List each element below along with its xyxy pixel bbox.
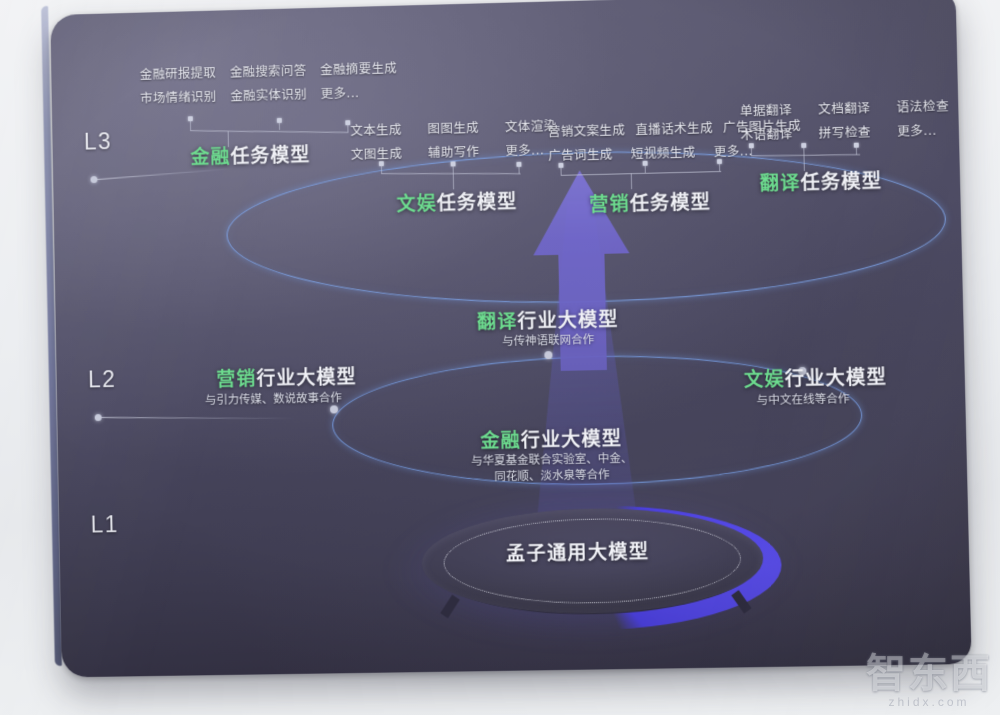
l3-model-title-marketing: 营销任务模型 xyxy=(589,187,711,217)
capability-chip: 文档翻译 xyxy=(818,97,871,117)
capability-chip: 语法检查 xyxy=(896,95,949,115)
l2-partners-translation: 与传神语联网合作 xyxy=(502,331,594,349)
level-rail-l2 xyxy=(102,417,296,419)
capability-chip: 直播话术生成 xyxy=(635,117,713,138)
l3-model-title-translation: 翻译任务模型 xyxy=(759,166,882,196)
l1-model-title: 孟子通用大模型 xyxy=(506,537,650,567)
capability-chip: 图图生成 xyxy=(427,117,479,137)
l2-partners-finance-line2: 同花顺、淡水泉等合作 xyxy=(471,466,633,485)
l3-model-title-finance: 金融任务模型 xyxy=(190,140,310,170)
capability-chip: 拼写检查 xyxy=(819,121,872,141)
l2-model-title-finance: 金融行业大模型 xyxy=(480,424,622,454)
l2-partners-finance: 与华夏基金联合实验室、中金、 同花顺、淡水泉等合作 xyxy=(471,450,633,485)
panel-face: L3 L2 L1 金融研报提取 金融搜索问答 xyxy=(50,0,971,677)
capability-chip: 更多... xyxy=(897,120,937,140)
l2-partners-marketing: 与引力传媒、数说故事合作 xyxy=(205,389,342,408)
capability-chip: 市场情绪识别 xyxy=(140,86,217,107)
l2-partners-entertainment: 与中文在线等合作 xyxy=(756,390,849,408)
capability-chip: 更多... xyxy=(321,82,360,102)
l2-model-title-entertainment: 文娱行业大模型 xyxy=(744,362,888,392)
capability-chip: 金融摘要生成 xyxy=(320,57,397,78)
capability-chip: 文本生成 xyxy=(350,119,402,139)
l2-model-title-marketing: 营销行业大模型 xyxy=(216,362,357,392)
capability-chip: 短视频生成 xyxy=(631,142,696,163)
watermark-url: zhidx.com xyxy=(866,695,992,709)
capability-chip: 金融研报提取 xyxy=(140,62,217,83)
capability-chip: 广告词生成 xyxy=(548,144,613,165)
l2-model-translation: 翻译行业大模型 与传神语联网合作 xyxy=(50,0,955,15)
level-rail-l3 xyxy=(97,168,235,180)
capability-chip: 金融实体识别 xyxy=(230,84,307,105)
level-label-l2: L2 xyxy=(88,366,117,393)
exhibition-display-panel: L3 L2 L1 金融研报提取 金融搜索问答 xyxy=(50,0,971,677)
capability-chip: 更多... xyxy=(505,139,544,159)
capability-chip: 单据翻译 xyxy=(740,99,792,119)
photo-scene: L3 L2 L1 金融研报提取 金融搜索问答 xyxy=(0,0,1000,715)
capability-chip: 文图生成 xyxy=(351,143,403,163)
level-dot-l3 xyxy=(90,176,97,183)
capability-chip: 营销文案生成 xyxy=(548,119,626,140)
level-label-l1: L1 xyxy=(90,511,119,538)
l2-model-title-translation: 翻译行业大模型 xyxy=(477,305,619,335)
l2-model-finance: 金融行业大模型 与华夏基金联合实验室、中金、 同花顺、淡水泉等合作 xyxy=(50,0,955,15)
capability-chip: 术语翻译 xyxy=(740,123,792,143)
l3-model-title-entertainment: 文娱任务模型 xyxy=(396,187,517,217)
capability-chip: 辅助写作 xyxy=(428,141,480,161)
l2-model-entertainment: 文娱行业大模型 与中文在线等合作 xyxy=(50,0,955,15)
capability-chip: 金融搜索问答 xyxy=(230,60,307,81)
l1-base-platform: 孟子通用大模型 xyxy=(50,0,955,15)
l2-model-marketing: 营销行业大模型 与引力传媒、数说故事合作 xyxy=(50,0,955,15)
level-label-l3: L3 xyxy=(84,128,113,155)
